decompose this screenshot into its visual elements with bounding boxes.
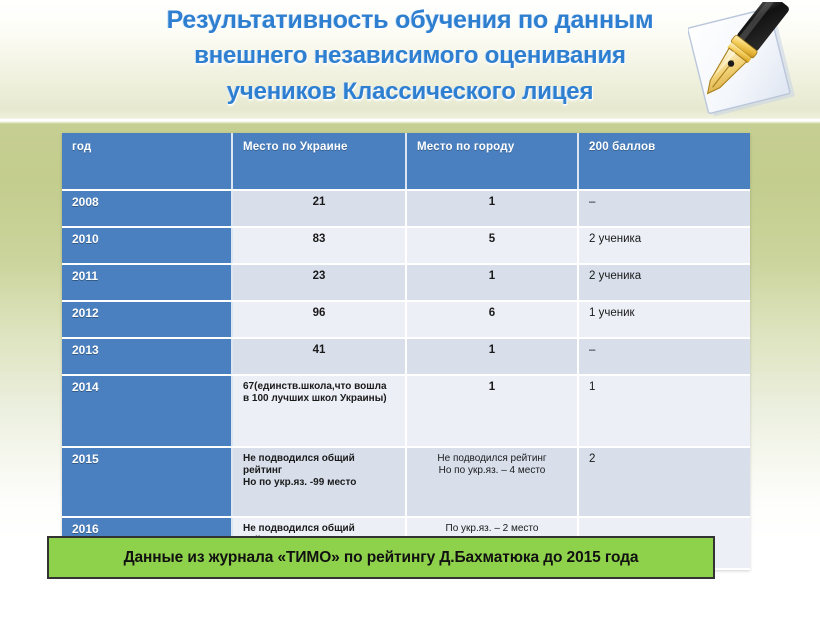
cell-line: рейтинг [243,465,397,477]
cell-200-points: 1 [578,375,750,447]
cell-200-points: 2 ученика [578,227,750,264]
cell-line: Не подводился рейтинг [407,453,577,465]
cell-year: 2013 [62,338,232,375]
cell-year: 2011 [62,264,232,301]
cell-place-city: 5 [406,227,578,264]
slide-canvas: Результативность обучения по данным внеш… [0,0,820,617]
cell-year: 2015 [62,447,232,517]
cell-line: По укр.яз. – 2 место [407,523,577,535]
cell-place-city: 6 [406,301,578,338]
table-body: 2008 21 1 – 2010 83 5 2 ученика 2011 23 … [62,190,750,569]
cell-place-city: 1 [406,190,578,227]
cell-line: в 100 лучших школ Украины) [243,393,397,405]
cell-line: Но по укр.яз. -99 место [243,477,397,489]
table-row: 2012 96 6 1 ученик [62,301,750,338]
cell-200-points: 2 ученика [578,264,750,301]
table-row: 2014 67(единств.школа,что вошла в 100 лу… [62,375,750,447]
table-header-row: год Место по Украине Место по городу 200… [62,133,750,190]
table-row: 2010 83 5 2 ученика [62,227,750,264]
table-row: 2008 21 1 – [62,190,750,227]
cell-place-ukraine: 21 [232,190,406,227]
source-banner-text: Данные из журнала «ТИМО» по рейтингу Д.Б… [124,549,639,567]
cell-year: 2008 [62,190,232,227]
results-table-container: год Место по Украине Место по городу 200… [62,133,750,570]
cell-place-ukraine: 41 [232,338,406,375]
cell-place-ukraine: 83 [232,227,406,264]
header-place-city: Место по городу [406,133,578,190]
results-table: год Место по Украине Место по городу 200… [62,133,750,570]
cell-line: Не подводился общий [243,453,397,465]
cell-place-ukraine: 23 [232,264,406,301]
cell-year: 2012 [62,301,232,338]
header-200-points: 200 баллов [578,133,750,190]
header-year: год [62,133,232,190]
table-row: 2013 41 1 – [62,338,750,375]
cell-place-city: 1 [406,264,578,301]
cell-year: 2014 [62,375,232,447]
cell-place-ukraine: 96 [232,301,406,338]
table-header: год Место по Украине Место по городу 200… [62,133,750,190]
cell-place-ukraine: 67(единств.школа,что вошла в 100 лучших … [232,375,406,447]
cell-place-city: Не подводился рейтинг Но по укр.яз. – 4 … [406,447,578,517]
cell-line: Не подводился общий [243,523,397,535]
cell-200-points: – [578,338,750,375]
cell-place-city: 1 [406,375,578,447]
cell-line: Но по укр.яз. – 4 место [407,465,577,477]
cell-place-ukraine: Не подводился общий рейтинг Но по укр.яз… [232,447,406,517]
cell-place-city: 1 [406,338,578,375]
header-place-ukraine: Место по Украине [232,133,406,190]
table-row: 2011 23 1 2 ученика [62,264,750,301]
cell-200-points: 1 ученик [578,301,750,338]
cell-200-points: 2 [578,447,750,517]
cell-year: 2010 [62,227,232,264]
cell-200-points: – [578,190,750,227]
source-banner: Данные из журнала «ТИМО» по рейтингу Д.Б… [47,536,715,579]
fountain-pen-and-notepad-icon [688,2,814,122]
cell-line: 67(единств.школа,что вошла [243,381,397,393]
table-row: 2015 Не подводился общий рейтинг Но по у… [62,447,750,517]
